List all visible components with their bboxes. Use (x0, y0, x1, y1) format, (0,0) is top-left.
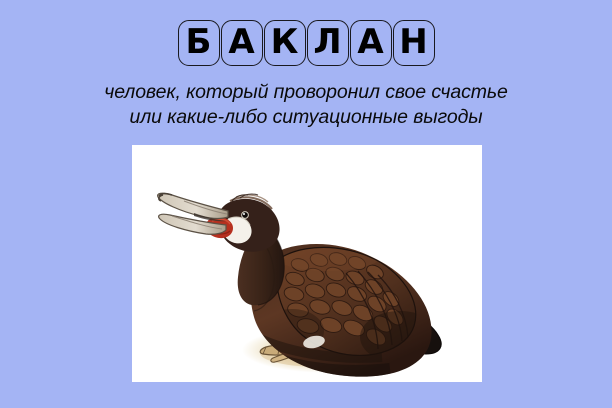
slide-canvas: Б А К Л А Н человек, который проворонил … (0, 0, 612, 408)
cormorant-bird-illustration (132, 145, 482, 382)
letter-tile: Н (393, 20, 435, 66)
letter-tile: Б (178, 20, 220, 66)
picture-frame (132, 145, 482, 382)
letter-tile: А (221, 20, 263, 66)
definition-line-2: или какие-либо ситуационные выгоды (0, 105, 612, 130)
letter-glyph: Н (399, 25, 427, 59)
letter-glyph: А (228, 25, 254, 59)
word-tiles-row: Б А К Л А Н (0, 20, 612, 66)
letter-glyph: Л (313, 25, 341, 59)
letter-glyph: А (357, 25, 383, 59)
letter-tile: А (350, 20, 392, 66)
definition-line-1: человек, который проворонил свое счастье (0, 80, 612, 105)
letter-tile: Л (307, 20, 349, 66)
definition-text: человек, который проворонил свое счастье… (0, 80, 612, 130)
letter-tile: К (264, 20, 306, 66)
letter-glyph: Б (186, 25, 212, 59)
letter-glyph: К (271, 25, 299, 59)
